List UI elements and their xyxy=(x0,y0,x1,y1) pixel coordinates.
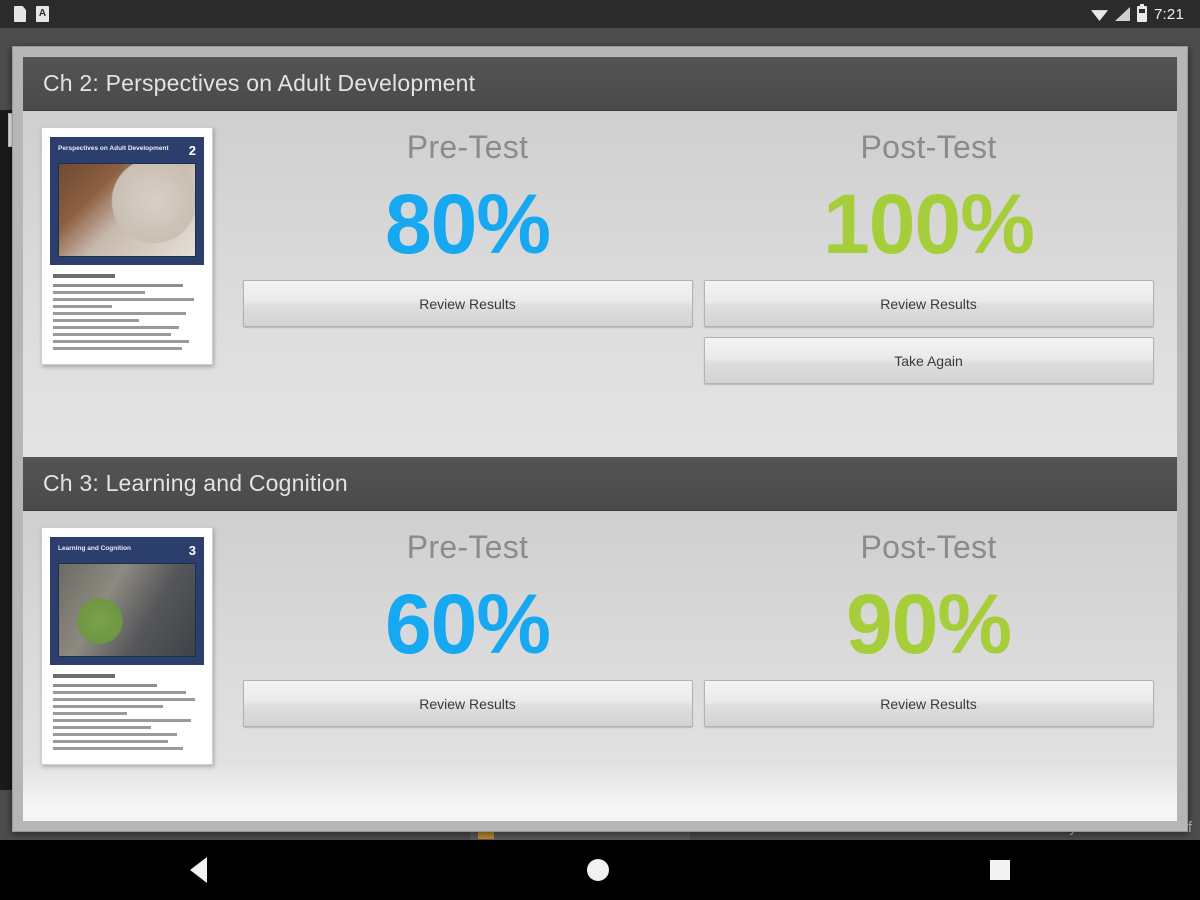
dialog-scroll-area[interactable]: Ch 2: Perspectives on Adult Development … xyxy=(23,57,1177,821)
thumbnail-cover: Learning and Cognition 3 xyxy=(50,537,204,665)
thumbnail-chapter-number: 3 xyxy=(189,544,196,557)
review-results-button[interactable]: Review Results xyxy=(243,680,693,727)
pre-test-score: 60% xyxy=(385,582,550,666)
thumbnail-objectives-text xyxy=(50,265,204,350)
thumbnail-photo xyxy=(58,563,196,657)
thumbnail-cover-title: Perspectives on Adult Development xyxy=(58,144,185,153)
objectives-heading-line xyxy=(53,274,115,278)
chapter-title: Ch 2: Perspectives on Adult Development xyxy=(43,70,475,97)
score-columns: Pre-Test 60% Review Results Post-Test 90… xyxy=(237,523,1159,793)
chapter-thumbnail[interactable]: Perspectives on Adult Development 2 xyxy=(41,127,213,365)
home-button[interactable] xyxy=(587,859,609,881)
thumbnail-cover-title: Learning and Cognition xyxy=(58,544,185,553)
chapter-thumbnail[interactable]: Learning and Cognition 3 xyxy=(41,527,213,765)
post-test-score: 90% xyxy=(846,582,1011,666)
review-results-button[interactable]: Review Results xyxy=(243,280,693,327)
recents-button[interactable] xyxy=(990,860,1010,880)
chapter-body: Learning and Cognition 3 xyxy=(23,511,1177,811)
status-notification-icons: A xyxy=(14,6,49,22)
android-navigation-bar xyxy=(0,840,1200,900)
battery-icon xyxy=(1137,6,1147,22)
review-results-button[interactable]: Review Results xyxy=(704,280,1154,327)
letter-a-notification-icon: A xyxy=(36,6,49,22)
back-button[interactable] xyxy=(190,857,207,883)
thumbnail-chapter-number: 2 xyxy=(189,144,196,157)
post-test-column: Post-Test 100% Review Results Take Again xyxy=(698,123,1159,439)
cell-signal-icon xyxy=(1115,7,1130,21)
thumbnail-objectives-text xyxy=(50,665,204,750)
document-notification-icon xyxy=(14,6,26,22)
pre-test-column: Pre-Test 80% Review Results xyxy=(237,123,698,439)
score-columns: Pre-Test 80% Review Results Post-Test 10… xyxy=(237,123,1159,439)
status-clock: 7:21 xyxy=(1154,6,1184,23)
take-again-button[interactable]: Take Again xyxy=(704,337,1154,384)
pre-test-column: Pre-Test 60% Review Results xyxy=(237,523,698,793)
chapter-thumbnail-wrapper[interactable]: Perspectives on Adult Development 2 xyxy=(41,123,237,439)
thumbnail-cover: Perspectives on Adult Development 2 xyxy=(50,137,204,265)
chapter-body: Perspectives on Adult Development 2 xyxy=(23,111,1177,457)
objectives-heading-line xyxy=(53,674,115,678)
chapter-header: Ch 2: Perspectives on Adult Development xyxy=(23,57,1177,111)
post-test-column: Post-Test 90% Review Results xyxy=(698,523,1159,793)
chapter-title: Ch 3: Learning and Cognition xyxy=(43,470,348,497)
review-results-button[interactable]: Review Results xyxy=(704,680,1154,727)
pre-test-label: Pre-Test xyxy=(407,529,529,566)
status-system-icons: 7:21 xyxy=(1091,6,1190,23)
thumbnail-photo xyxy=(58,163,196,257)
post-test-label: Post-Test xyxy=(860,529,996,566)
post-test-label: Post-Test xyxy=(860,129,996,166)
chapter-header: Ch 3: Learning and Cognition xyxy=(23,457,1177,511)
test-results-dialog: Ch 2: Perspectives on Adult Development … xyxy=(12,46,1188,832)
pre-test-score: 80% xyxy=(385,182,550,266)
android-status-bar: A 7:21 xyxy=(0,0,1200,28)
pre-test-label: Pre-Test xyxy=(407,129,529,166)
chapter-thumbnail-wrapper[interactable]: Learning and Cognition 3 xyxy=(41,523,237,793)
post-test-score: 100% xyxy=(823,182,1034,266)
wifi-icon xyxy=(1091,7,1108,21)
